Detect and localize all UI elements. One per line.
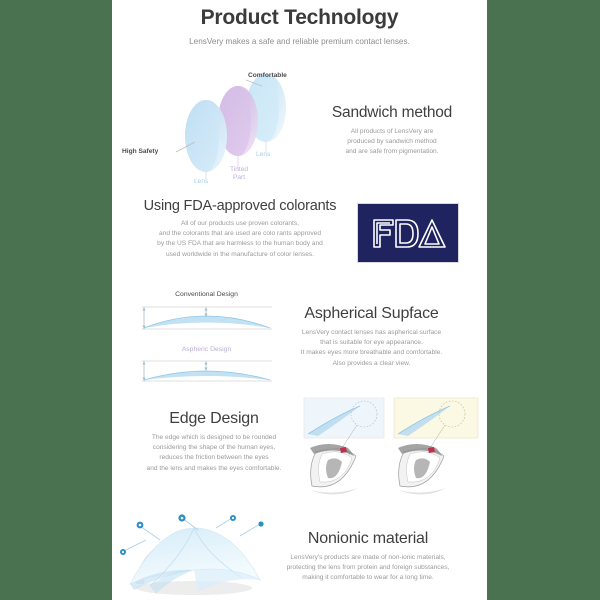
edge-text-block: Edge Design The edge which is designed t… (114, 410, 314, 474)
body-line: LensVery contact lenses has aspherical s… (264, 328, 479, 338)
aspherical-text-block: Aspherical Supface LensVery contact lens… (264, 305, 479, 369)
section-body-sandwich: All products of LensVery are produced by… (302, 127, 482, 158)
eye-edge-contact-diagram (302, 396, 482, 500)
body-line: reduces the friction between the eyes (114, 453, 314, 463)
infographic-stage: Product Technology LensVery makes a safe… (0, 0, 600, 600)
body-line: It makes eyes more breathable and comfor… (264, 348, 479, 358)
body-line: protecting the lens from protein and for… (252, 563, 484, 573)
callout-lens-front: Lens (194, 178, 208, 185)
body-line: The edge which is designed to be rounded (114, 433, 314, 443)
section-aspherical-surface: Conventional Design Aspheric Design (112, 291, 487, 391)
body-line: All of our products use proven colorants… (120, 219, 360, 229)
fda-logo (358, 204, 458, 262)
body-line: Also provides a clear view. (264, 359, 479, 369)
section-body-edge: The edge which is designed to be rounded… (114, 433, 314, 474)
body-line: and are safe from pigmentation. (302, 147, 482, 157)
lens-profile-comparison-diagram: Conventional Design Aspheric Design (134, 291, 279, 387)
page-subtitle: LensVery makes a safe and reliable premi… (112, 37, 487, 46)
section-body-aspherical: LensVery contact lenses has aspherical s… (264, 328, 479, 369)
label-aspheric-design: Aspheric Design (134, 346, 279, 353)
body-line: All products of LensVery are (302, 127, 482, 137)
body-line: by the US FDA that are harmless to the h… (120, 239, 360, 249)
section-title-aspherical: Aspherical Supface (264, 305, 479, 323)
protective-dome-shield-diagram (120, 514, 270, 598)
body-line: used worldwide in the manufacture of col… (120, 250, 360, 260)
section-edge-design: Edge Design The edge which is designed t… (112, 396, 487, 504)
callout-comfortable: Comfortable (248, 72, 287, 79)
section-title-fda: Using FDA-approved colorants (120, 198, 360, 214)
section-body-nonionic: LensVery's products are made of non-ioni… (252, 553, 484, 584)
sandwich-text-block: Sandwich method All products of LensVery… (302, 104, 482, 158)
section-sandwich-method: Comfortable High Safety Lens Tinted Part… (112, 66, 487, 191)
body-line: that is suitable for eye appearance. (264, 338, 479, 348)
page-title: Product Technology (112, 6, 487, 30)
callout-high-safety: High Safety (122, 148, 158, 155)
label-conventional-design: Conventional Design (134, 291, 279, 298)
section-nonionic-material: Nonionic material LensVery's products ar… (112, 512, 487, 600)
nonionic-text-block: Nonionic material LensVery's products ar… (252, 530, 484, 584)
section-title-nonionic: Nonionic material (252, 530, 484, 548)
section-body-fda: All of our products use proven colorants… (120, 219, 360, 260)
fda-text-block: Using FDA-approved colorants All of our … (120, 198, 360, 260)
section-fda-colorants: Using FDA-approved colorants All of our … (112, 196, 487, 286)
section-title-sandwich: Sandwich method (302, 104, 482, 122)
callout-lens-back: Lens (256, 151, 270, 158)
body-line: considering the shape of the human eyes, (114, 443, 314, 453)
callout-tinted-part: Tinted Part (224, 166, 254, 181)
section-title-edge: Edge Design (114, 410, 314, 428)
body-line: and the lens and makes the eyes comforta… (114, 464, 314, 474)
content-panel: Product Technology LensVery makes a safe… (112, 0, 487, 600)
body-line: LensVery's products are made of non-ioni… (252, 553, 484, 563)
header: Product Technology LensVery makes a safe… (112, 0, 487, 46)
body-line: produced by sandwich method (302, 137, 482, 147)
body-line: and the colorants that are used are colo… (120, 229, 360, 239)
body-line: making it comfortable to wear for a long… (252, 573, 484, 583)
